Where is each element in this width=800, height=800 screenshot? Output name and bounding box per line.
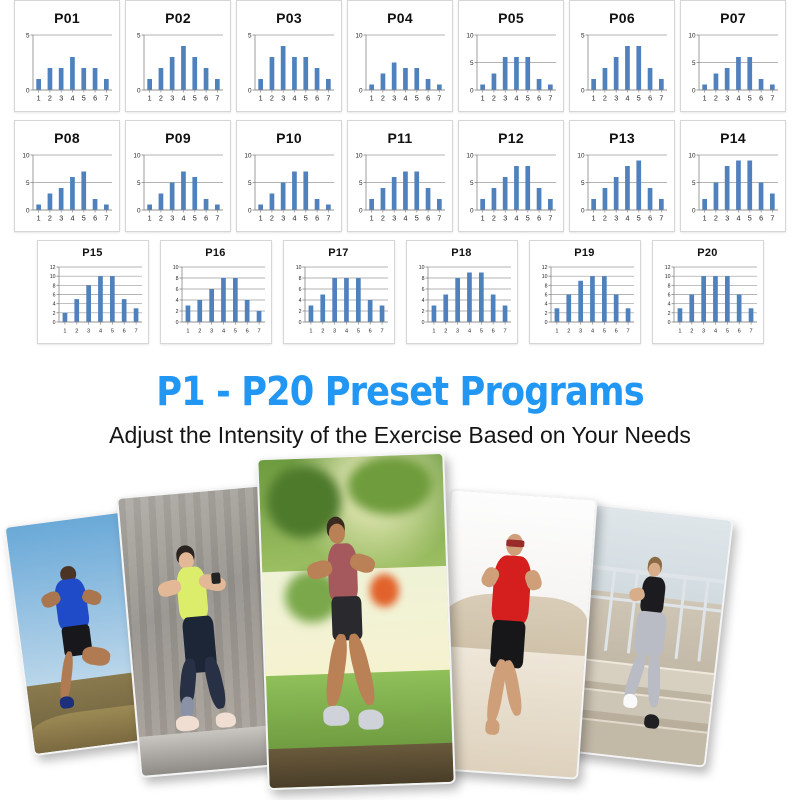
svg-text:4: 4: [626, 94, 630, 103]
chart-card-p05: P0505101234567: [458, 0, 564, 112]
chart-row-2: P0805101234567P0905101234567P10051012345…: [0, 120, 800, 232]
svg-text:0: 0: [421, 320, 424, 326]
svg-text:3: 3: [456, 329, 459, 335]
chart-plot-p15: 0246810121234567: [41, 261, 145, 337]
svg-text:10: 10: [244, 152, 252, 159]
svg-text:7: 7: [437, 94, 441, 103]
svg-text:3: 3: [702, 329, 705, 335]
svg-text:5: 5: [748, 94, 752, 103]
svg-text:10: 10: [22, 152, 30, 159]
svg-text:4: 4: [590, 329, 593, 335]
svg-text:0: 0: [692, 87, 696, 94]
svg-text:4: 4: [182, 214, 186, 223]
svg-text:6: 6: [93, 214, 97, 223]
chart-card-p14: P1405101234567: [680, 120, 786, 232]
svg-text:3: 3: [87, 329, 90, 335]
svg-text:3: 3: [333, 329, 336, 335]
chart-title-p02: P02: [165, 11, 191, 25]
svg-text:0: 0: [581, 207, 585, 214]
chart-title-p16: P16: [205, 248, 225, 259]
svg-text:2: 2: [321, 329, 324, 335]
svg-text:0: 0: [667, 320, 670, 326]
chart-card-p03: P03051234567: [236, 0, 342, 112]
svg-text:4: 4: [298, 298, 301, 304]
chart-plot-p02: 051234567: [130, 29, 226, 105]
svg-text:5: 5: [137, 180, 141, 187]
svg-text:4: 4: [71, 214, 75, 223]
svg-text:6: 6: [175, 287, 178, 293]
chart-plot-p17: 02468101234567: [287, 261, 391, 337]
svg-text:6: 6: [426, 214, 430, 223]
svg-text:2: 2: [175, 309, 178, 315]
svg-text:7: 7: [134, 329, 137, 335]
svg-text:5: 5: [526, 94, 530, 103]
photo-runner-woman-park: [256, 452, 455, 790]
svg-text:10: 10: [688, 152, 696, 159]
svg-text:1: 1: [370, 94, 374, 103]
svg-text:6: 6: [204, 214, 208, 223]
chart-title-p12: P12: [498, 131, 524, 145]
svg-text:10: 10: [49, 274, 55, 280]
svg-text:0: 0: [137, 207, 141, 214]
svg-text:4: 4: [515, 94, 519, 103]
chart-plot-p13: 05101234567: [574, 149, 670, 225]
svg-text:1: 1: [148, 94, 152, 103]
chart-card-p20: P200246810121234567: [652, 240, 764, 344]
svg-text:6: 6: [122, 329, 125, 335]
svg-text:4: 4: [71, 94, 75, 103]
svg-text:6: 6: [667, 293, 670, 299]
chart-title-p19: P19: [574, 248, 594, 259]
svg-text:2: 2: [444, 329, 447, 335]
chart-card-p06: P06051234567: [569, 0, 675, 112]
svg-text:5: 5: [725, 329, 728, 335]
svg-text:0: 0: [692, 207, 696, 214]
svg-text:6: 6: [93, 94, 97, 103]
svg-text:0: 0: [26, 87, 30, 94]
svg-text:7: 7: [437, 214, 441, 223]
svg-text:6: 6: [491, 329, 494, 335]
svg-text:1: 1: [481, 214, 485, 223]
svg-text:6: 6: [426, 94, 430, 103]
svg-text:3: 3: [170, 214, 174, 223]
chart-plot-p19: 0246810121234567: [533, 261, 637, 337]
chart-plot-p07: 05101234567: [685, 29, 781, 105]
svg-text:5: 5: [637, 94, 641, 103]
svg-text:4: 4: [544, 302, 547, 308]
chart-plot-p03: 051234567: [241, 29, 337, 105]
svg-text:2: 2: [492, 214, 496, 223]
chart-card-p02: P02051234567: [125, 0, 231, 112]
svg-text:3: 3: [725, 94, 729, 103]
svg-text:3: 3: [281, 94, 285, 103]
svg-text:2: 2: [381, 214, 385, 223]
svg-text:5: 5: [470, 60, 474, 67]
svg-text:1: 1: [259, 214, 263, 223]
svg-text:1: 1: [309, 329, 312, 335]
svg-text:3: 3: [503, 94, 507, 103]
svg-text:4: 4: [667, 302, 670, 308]
svg-text:5: 5: [415, 214, 419, 223]
chart-row-3: P150246810121234567P1602468101234567P170…: [0, 240, 800, 344]
svg-text:3: 3: [725, 214, 729, 223]
chart-card-p04: P040101234567: [347, 0, 453, 112]
svg-text:0: 0: [581, 87, 585, 94]
svg-text:0: 0: [248, 207, 252, 214]
svg-text:5: 5: [602, 329, 605, 335]
svg-text:5: 5: [359, 180, 363, 187]
svg-text:2: 2: [381, 94, 385, 103]
svg-text:0: 0: [470, 87, 474, 94]
svg-text:12: 12: [664, 265, 670, 271]
chart-title-p13: P13: [609, 131, 635, 145]
svg-text:7: 7: [215, 94, 219, 103]
chart-title-p17: P17: [328, 248, 348, 259]
photo-runner-man-red-beach: [430, 488, 597, 780]
svg-text:5: 5: [193, 94, 197, 103]
svg-text:8: 8: [175, 276, 178, 282]
svg-text:2: 2: [690, 329, 693, 335]
svg-text:4: 4: [421, 298, 424, 304]
svg-text:5: 5: [248, 180, 252, 187]
svg-text:1: 1: [555, 329, 558, 335]
svg-text:0: 0: [52, 320, 55, 326]
chart-card-p07: P0705101234567: [680, 0, 786, 112]
headline-block: P1 - P20 Preset Programs Adjust the Inte…: [0, 372, 800, 447]
svg-text:10: 10: [688, 32, 696, 39]
svg-text:1: 1: [703, 94, 707, 103]
chart-plot-p18: 02468101234567: [410, 261, 514, 337]
chart-plot-p11: 05101234567: [352, 149, 448, 225]
svg-text:0: 0: [359, 207, 363, 214]
svg-text:0: 0: [298, 320, 301, 326]
poster-root: P01051234567P02051234567P03051234567P040…: [0, 0, 800, 800]
chart-plot-p09: 05101234567: [130, 149, 226, 225]
svg-text:2: 2: [52, 311, 55, 317]
svg-text:7: 7: [548, 94, 552, 103]
svg-text:7: 7: [215, 214, 219, 223]
svg-text:3: 3: [503, 214, 507, 223]
svg-text:7: 7: [659, 214, 663, 223]
svg-text:5: 5: [526, 214, 530, 223]
svg-text:8: 8: [421, 276, 424, 282]
svg-text:0: 0: [359, 87, 363, 94]
chart-title-p03: P03: [276, 11, 302, 25]
svg-text:6: 6: [648, 94, 652, 103]
svg-text:5: 5: [692, 60, 696, 67]
photo-strip: [0, 455, 800, 800]
svg-text:1: 1: [592, 214, 596, 223]
svg-text:5: 5: [581, 180, 585, 187]
chart-card-p10: P1005101234567: [236, 120, 342, 232]
svg-text:7: 7: [326, 214, 330, 223]
svg-text:4: 4: [467, 329, 470, 335]
svg-text:5: 5: [470, 180, 474, 187]
svg-text:10: 10: [355, 32, 363, 39]
svg-text:1: 1: [370, 214, 374, 223]
svg-text:0: 0: [248, 87, 252, 94]
svg-text:5: 5: [692, 180, 696, 187]
svg-text:2: 2: [48, 214, 52, 223]
svg-text:10: 10: [172, 265, 178, 271]
svg-text:5: 5: [26, 180, 30, 187]
svg-text:10: 10: [466, 32, 474, 39]
svg-text:5: 5: [233, 329, 236, 335]
svg-text:3: 3: [392, 94, 396, 103]
svg-text:3: 3: [210, 329, 213, 335]
svg-text:2: 2: [48, 94, 52, 103]
svg-text:6: 6: [544, 293, 547, 299]
svg-text:10: 10: [133, 152, 141, 159]
svg-text:2: 2: [567, 329, 570, 335]
svg-text:2: 2: [198, 329, 201, 335]
svg-text:7: 7: [770, 214, 774, 223]
svg-text:4: 4: [293, 214, 297, 223]
svg-text:2: 2: [159, 214, 163, 223]
chart-title-p11: P11: [387, 131, 412, 145]
chart-plot-p08: 05101234567: [19, 149, 115, 225]
svg-text:2: 2: [75, 329, 78, 335]
svg-text:4: 4: [515, 214, 519, 223]
svg-text:0: 0: [137, 87, 141, 94]
svg-text:4: 4: [404, 214, 408, 223]
svg-text:2: 2: [603, 214, 607, 223]
svg-text:6: 6: [737, 329, 740, 335]
svg-text:1: 1: [37, 94, 41, 103]
svg-text:7: 7: [749, 329, 752, 335]
svg-text:5: 5: [110, 329, 113, 335]
svg-text:8: 8: [298, 276, 301, 282]
chart-title-p09: P09: [165, 131, 191, 145]
chart-plot-p20: 0246810121234567: [656, 261, 760, 337]
svg-text:4: 4: [626, 214, 630, 223]
svg-text:2: 2: [298, 309, 301, 315]
svg-text:5: 5: [304, 214, 308, 223]
svg-text:4: 4: [344, 329, 347, 335]
svg-text:4: 4: [52, 302, 55, 308]
chart-title-p05: P05: [498, 11, 524, 25]
svg-text:10: 10: [418, 265, 424, 271]
svg-text:5: 5: [248, 32, 252, 39]
svg-text:6: 6: [204, 94, 208, 103]
svg-text:5: 5: [304, 94, 308, 103]
svg-text:4: 4: [713, 329, 716, 335]
chart-card-p09: P0905101234567: [125, 120, 231, 232]
chart-title-p08: P08: [54, 131, 80, 145]
svg-text:1: 1: [432, 329, 435, 335]
svg-text:3: 3: [614, 214, 618, 223]
svg-text:10: 10: [466, 152, 474, 159]
chart-card-p12: P1205101234567: [458, 120, 564, 232]
chart-title-p15: P15: [82, 248, 102, 259]
svg-text:6: 6: [759, 214, 763, 223]
svg-text:5: 5: [581, 32, 585, 39]
svg-text:7: 7: [626, 329, 629, 335]
svg-text:6: 6: [759, 94, 763, 103]
svg-text:5: 5: [82, 94, 86, 103]
svg-text:7: 7: [104, 214, 108, 223]
svg-text:7: 7: [257, 329, 260, 335]
svg-text:7: 7: [104, 94, 108, 103]
chart-plot-p06: 051234567: [574, 29, 670, 105]
chart-plot-p14: 05101234567: [685, 149, 781, 225]
chart-title-p20: P20: [697, 248, 717, 259]
svg-text:1: 1: [259, 94, 263, 103]
svg-text:4: 4: [221, 329, 224, 335]
svg-text:6: 6: [537, 214, 541, 223]
svg-text:6: 6: [298, 287, 301, 293]
svg-text:8: 8: [52, 283, 55, 289]
svg-text:1: 1: [592, 94, 596, 103]
svg-text:5: 5: [26, 32, 30, 39]
chart-title-p06: P06: [609, 11, 635, 25]
svg-text:5: 5: [193, 214, 197, 223]
svg-text:5: 5: [415, 94, 419, 103]
svg-text:2: 2: [667, 311, 670, 317]
svg-text:10: 10: [295, 265, 301, 271]
svg-text:3: 3: [614, 94, 618, 103]
svg-text:4: 4: [98, 329, 101, 335]
chart-plot-p04: 0101234567: [352, 29, 448, 105]
svg-text:1: 1: [63, 329, 66, 335]
svg-text:12: 12: [49, 265, 55, 271]
svg-text:6: 6: [52, 293, 55, 299]
chart-plot-p01: 051234567: [19, 29, 115, 105]
svg-text:7: 7: [548, 214, 552, 223]
svg-text:0: 0: [175, 320, 178, 326]
chart-plot-p12: 05101234567: [463, 149, 559, 225]
svg-text:2: 2: [603, 94, 607, 103]
chart-title-p07: P07: [720, 11, 746, 25]
svg-text:12: 12: [541, 265, 547, 271]
svg-text:2: 2: [159, 94, 163, 103]
chart-card-p13: P1305101234567: [569, 120, 675, 232]
svg-text:7: 7: [770, 94, 774, 103]
svg-text:1: 1: [148, 214, 152, 223]
chart-plot-p16: 02468101234567: [164, 261, 268, 337]
svg-text:4: 4: [737, 94, 741, 103]
svg-text:4: 4: [175, 298, 178, 304]
chart-title-p10: P10: [276, 131, 302, 145]
svg-text:3: 3: [392, 214, 396, 223]
chart-plot-p10: 05101234567: [241, 149, 337, 225]
chart-card-p11: P1105101234567: [347, 120, 453, 232]
chart-card-p01: P01051234567: [14, 0, 120, 112]
chart-card-p16: P1602468101234567: [160, 240, 272, 344]
svg-text:4: 4: [404, 94, 408, 103]
svg-text:10: 10: [577, 152, 585, 159]
chart-card-p08: P0805101234567: [14, 120, 120, 232]
svg-text:8: 8: [667, 283, 670, 289]
svg-text:3: 3: [59, 214, 63, 223]
svg-text:0: 0: [26, 207, 30, 214]
svg-text:7: 7: [503, 329, 506, 335]
headline-title: P1 - P20 Preset Programs: [48, 372, 752, 412]
svg-text:1: 1: [186, 329, 189, 335]
svg-text:6: 6: [537, 94, 541, 103]
headline-subtitle: Adjust the Intensity of the Exercise Bas…: [0, 424, 800, 447]
svg-text:0: 0: [544, 320, 547, 326]
svg-text:1: 1: [481, 94, 485, 103]
svg-text:4: 4: [182, 94, 186, 103]
svg-text:3: 3: [281, 214, 285, 223]
svg-text:6: 6: [421, 287, 424, 293]
svg-text:2: 2: [421, 309, 424, 315]
svg-text:6: 6: [614, 329, 617, 335]
svg-text:6: 6: [648, 214, 652, 223]
svg-text:2: 2: [270, 214, 274, 223]
svg-text:7: 7: [380, 329, 383, 335]
svg-text:6: 6: [368, 329, 371, 335]
svg-text:0: 0: [470, 207, 474, 214]
svg-text:2: 2: [714, 214, 718, 223]
svg-text:6: 6: [245, 329, 248, 335]
chart-title-p18: P18: [451, 248, 471, 259]
svg-text:7: 7: [326, 94, 330, 103]
svg-text:7: 7: [659, 94, 663, 103]
svg-text:1: 1: [37, 214, 41, 223]
svg-text:1: 1: [678, 329, 681, 335]
svg-text:3: 3: [170, 94, 174, 103]
chart-title-p14: P14: [720, 131, 746, 145]
svg-text:5: 5: [479, 329, 482, 335]
svg-text:4: 4: [293, 94, 297, 103]
chart-title-p04: P04: [387, 11, 413, 25]
svg-text:5: 5: [82, 214, 86, 223]
chart-card-p18: P1802468101234567: [406, 240, 518, 344]
svg-text:10: 10: [541, 274, 547, 280]
svg-text:6: 6: [315, 214, 319, 223]
svg-text:6: 6: [315, 94, 319, 103]
svg-text:2: 2: [544, 311, 547, 317]
svg-text:3: 3: [579, 329, 582, 335]
svg-text:5: 5: [748, 214, 752, 223]
svg-text:4: 4: [737, 214, 741, 223]
svg-text:2: 2: [492, 94, 496, 103]
svg-text:2: 2: [714, 94, 718, 103]
chart-row-1: P01051234567P02051234567P03051234567P040…: [0, 0, 800, 112]
svg-text:8: 8: [544, 283, 547, 289]
svg-text:10: 10: [355, 152, 363, 159]
chart-card-p19: P190246810121234567: [529, 240, 641, 344]
svg-text:5: 5: [356, 329, 359, 335]
svg-text:3: 3: [59, 94, 63, 103]
svg-text:1: 1: [703, 214, 707, 223]
svg-text:5: 5: [637, 214, 641, 223]
svg-text:2: 2: [270, 94, 274, 103]
preset-program-charts: P01051234567P02051234567P03051234567P040…: [0, 0, 800, 344]
chart-card-p15: P150246810121234567: [37, 240, 149, 344]
svg-text:10: 10: [664, 274, 670, 280]
chart-plot-p05: 05101234567: [463, 29, 559, 105]
svg-text:5: 5: [137, 32, 141, 39]
chart-title-p01: P01: [54, 11, 80, 25]
chart-card-p17: P1702468101234567: [283, 240, 395, 344]
